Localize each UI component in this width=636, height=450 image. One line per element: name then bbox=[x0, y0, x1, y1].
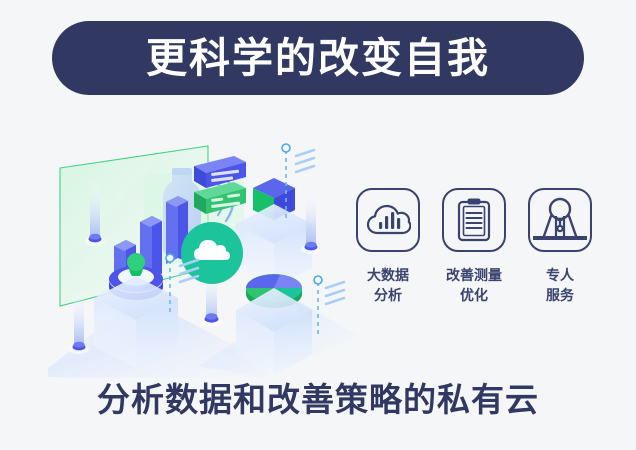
clipboard-icon bbox=[442, 188, 506, 252]
bottom-caption: 分析数据和改善策略的私有云 bbox=[0, 383, 636, 416]
feature-label: 专人 服务 bbox=[546, 265, 574, 306]
feature-item-support[interactable]: 专人 服务 bbox=[524, 188, 596, 336]
header-pill: 更科学的改变自我 bbox=[52, 21, 584, 95]
illustration bbox=[48, 128, 358, 378]
cloud-bar-chart-icon bbox=[356, 188, 420, 252]
feature-label: 大数据 分析 bbox=[367, 265, 409, 306]
promo-banner: 更科学的改变自我 bbox=[0, 0, 636, 450]
feature-item-measurement[interactable]: 改善测量 优化 bbox=[438, 188, 510, 336]
feature-item-big-data[interactable]: 大数据 分析 bbox=[352, 188, 424, 336]
page-title: 更科学的改变自我 bbox=[146, 38, 490, 79]
cloud-badge bbox=[181, 222, 243, 327]
support-person-icon bbox=[528, 188, 592, 252]
feature-label: 改善测量 优化 bbox=[446, 265, 502, 306]
feature-list: 大数据 分析 改善测量 优化 bbox=[352, 188, 596, 336]
